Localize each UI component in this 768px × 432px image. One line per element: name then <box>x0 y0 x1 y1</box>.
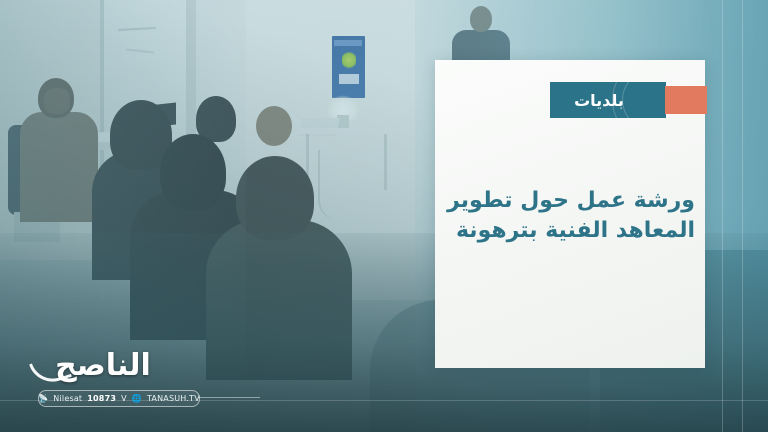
guide-line-vertical <box>722 0 723 432</box>
category-badge-label: بلديات <box>574 91 642 110</box>
satellite-frequency: 10873 <box>87 394 116 403</box>
satellite-dish-icon: 📡 <box>38 394 48 403</box>
strip-tail-line <box>198 397 260 398</box>
satellite-polarization: V <box>121 394 127 403</box>
news-card-graphic: بلديات ورشة عمل حول تطوير المعاهد الفنية… <box>0 0 768 432</box>
badge-accent-bar <box>665 86 707 114</box>
guide-line-vertical <box>742 0 743 432</box>
channel-logo: الناصح 📡 Nilesat 10873 V 🌐 TANASUH.TV <box>28 348 218 410</box>
category-badge[interactable]: بلديات <box>550 82 666 118</box>
page-title: ورشة عمل حول تطوير المعاهد الفنية بترهون… <box>445 186 703 246</box>
broadcast-info-strip: 📡 Nilesat 10873 V 🌐 TANASUH.TV <box>38 390 200 407</box>
website-label: TANASUH.TV <box>147 394 200 403</box>
satellite-label: Nilesat <box>53 394 82 403</box>
globe-icon: 🌐 <box>132 394 142 403</box>
